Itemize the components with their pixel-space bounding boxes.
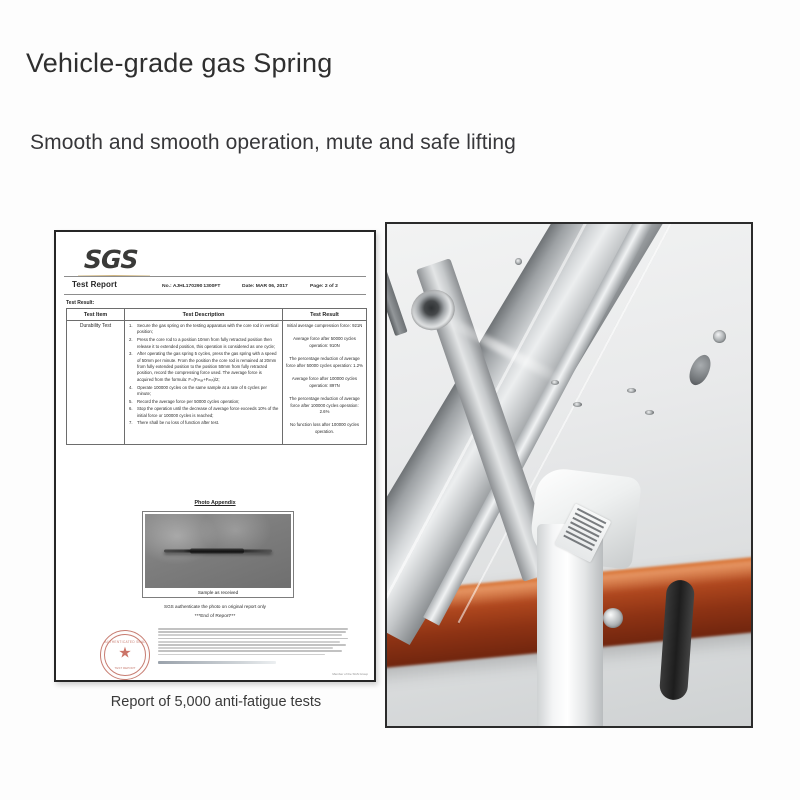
footer-text-line <box>158 631 346 633</box>
report-page: Page: 2 of 2 <box>310 283 338 288</box>
cell-test-description: 1.Secure the gas spring on the testing a… <box>125 321 283 445</box>
footer-text-line <box>158 628 348 630</box>
item-number: 1. <box>129 323 133 329</box>
item-number: 2. <box>129 337 133 343</box>
description-list: 1.Secure the gas spring on the testing a… <box>128 323 279 427</box>
list-item: No function loss after 100000 cycles ope… <box>286 422 363 435</box>
page-subtitle: Smooth and smooth operation, mute and sa… <box>30 131 516 155</box>
footer-text-line <box>158 644 346 646</box>
footer-text-line <box>158 634 342 636</box>
report-date: Date: MAR 06, 2017 <box>242 283 288 288</box>
footer-text-line <box>158 647 333 649</box>
footer-text-line <box>158 641 340 643</box>
list-item: 1.Secure the gas spring on the testing a… <box>128 323 279 336</box>
item-number: 6. <box>129 406 133 412</box>
table-header-row: Test Item Test Description Test Result <box>67 309 367 321</box>
item-text: Stop the operation until the decrease of… <box>137 406 278 417</box>
item-text: After operating the gas spring 5 cycles,… <box>137 351 277 382</box>
cell-test-item: Durability Test <box>67 321 125 445</box>
photo-appendix-box: Sample as received <box>142 511 294 598</box>
footer-group-note: Member of the SGS Group <box>332 672 368 676</box>
list-item: Average force after 50000 cycles operati… <box>286 336 363 349</box>
item-text: Operate 100000 cycles on the same sample… <box>137 385 267 396</box>
stamp-top-text: AUTHENTICATED SEAL <box>105 640 146 644</box>
list-item: Average force after 100000 cycles operat… <box>286 376 363 389</box>
list-item: 6.Stop the operation until the decrease … <box>128 406 279 419</box>
list-item: 7.There shall be no loss of function aft… <box>128 420 279 426</box>
screw-icon <box>713 330 726 343</box>
star-icon: ★ <box>118 646 131 661</box>
item-text: Secure the gas spring on the testing app… <box>137 323 278 334</box>
pivot-bolt <box>603 608 623 628</box>
item-number: 7. <box>129 420 133 426</box>
result-list: Initial average compression force: 921N … <box>286 323 363 435</box>
footer-fine-print <box>158 628 348 664</box>
list-item: 5.Record the average force per 50000 cyc… <box>128 399 279 405</box>
screw-icon <box>645 410 654 415</box>
document-caption: Report of 5,000 anti-fatigue tests <box>52 694 380 710</box>
test-result-table: Test Item Test Description Test Result D… <box>66 308 367 445</box>
sgs-test-report-page: SGS Test Report No.: AJHL170290 1300FT D… <box>54 230 376 682</box>
item-number: 4. <box>129 385 133 391</box>
screw-icon <box>627 388 636 393</box>
header-divider <box>64 276 366 277</box>
footer-text-line <box>158 638 348 640</box>
photo-appendix-title: Photo Appendix <box>56 500 374 506</box>
authentication-note: SGS authenticate the photo on original r… <box>56 604 374 609</box>
report-number: No.: AJHL170290 1300FT <box>162 283 220 288</box>
cell-test-result: Initial average compression force: 921N … <box>283 321 367 445</box>
th-test-description: Test Description <box>125 309 283 321</box>
item-text: Press the core rod to a position 10mm fr… <box>137 337 275 348</box>
test-report-column: SGS Test Report No.: AJHL170290 1300FT D… <box>52 228 380 728</box>
gas-spring-shape <box>164 550 272 553</box>
stamp-bottom-text: TEST REPORT <box>115 666 136 670</box>
sample-photo <box>145 514 291 588</box>
item-number: 3. <box>129 351 133 357</box>
official-seal-stamp: AUTHENTICATED SEAL ★ TEST REPORT <box>100 630 150 680</box>
report-header-row: Test Report No.: AJHL170290 1300FT Date:… <box>72 280 362 292</box>
test-result-label: Test Result: <box>66 300 94 306</box>
header-divider-lower <box>64 294 366 295</box>
table-row: Durability Test 1.Secure the gas spring … <box>67 321 367 445</box>
item-text: There shall be no loss of function after… <box>137 420 219 425</box>
item-number: 5. <box>129 399 133 405</box>
signature-line <box>158 661 276 663</box>
footer-text-line <box>158 650 342 652</box>
list-item: Initial average compression force: 921N <box>286 323 363 329</box>
list-item: 2.Press the core rod to a position 10mm … <box>128 337 279 350</box>
footer-text-line <box>158 654 325 656</box>
list-item: The percentage reduction of average forc… <box>286 396 363 415</box>
screw-icon <box>573 402 582 407</box>
page-title: Vehicle-grade gas Spring <box>26 48 333 79</box>
th-test-item: Test Item <box>67 309 125 321</box>
end-of-report-note: ***End of Report*** <box>56 614 374 619</box>
th-test-result: Test Result <box>283 309 367 321</box>
report-title: Test Report <box>72 280 162 289</box>
product-photo-panel <box>385 222 753 728</box>
photo-appendix-caption: Sample as received <box>145 588 291 595</box>
item-text: Record the average force per 50000 cycle… <box>137 399 239 404</box>
screw-icon <box>515 258 522 265</box>
sgs-logo: SGS <box>83 245 138 274</box>
list-item: The percentage reduction of average forc… <box>286 356 363 369</box>
list-item: 3.After operating the gas spring 5 cycle… <box>128 351 279 383</box>
list-item: 4.Operate 100000 cycles on the same samp… <box>128 385 279 398</box>
